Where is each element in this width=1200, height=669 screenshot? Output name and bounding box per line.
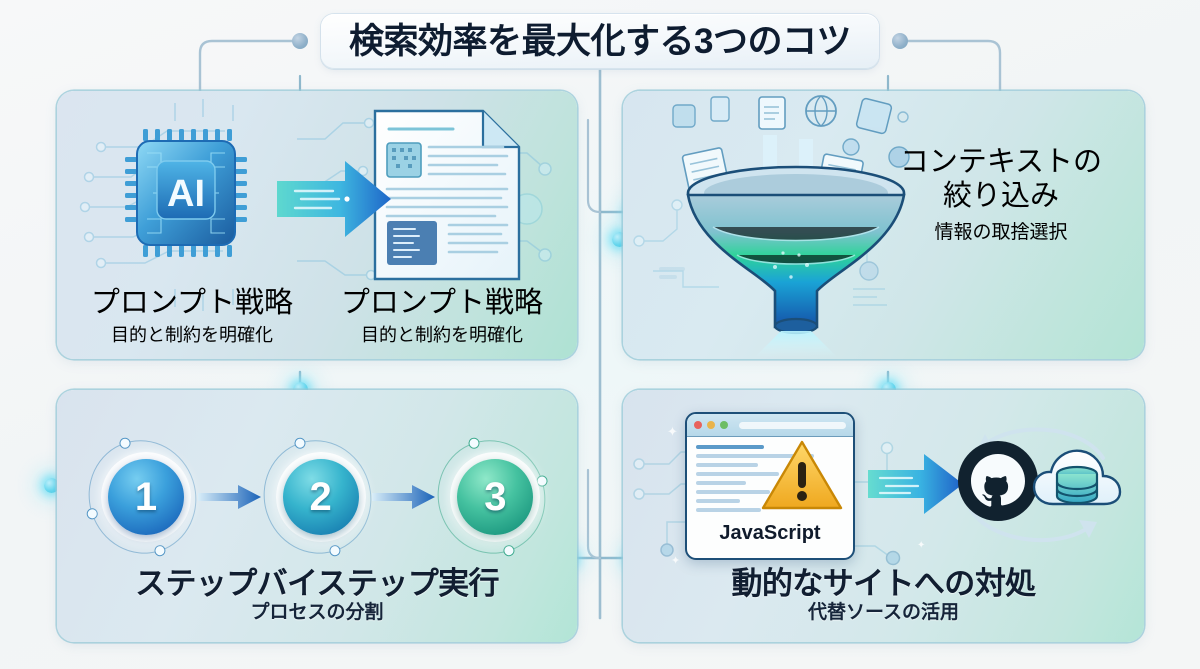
code-line (696, 490, 770, 494)
page-title-text: 検索効率を最大化する3つのコツ (349, 24, 851, 59)
orbit-dot (328, 544, 342, 558)
browser-titlebar (687, 414, 853, 437)
panel-title: ステップバイステップ実行 (57, 568, 577, 600)
traffic-light-close (694, 421, 702, 429)
panel-subtitle: プロセスの分割 (57, 602, 577, 625)
panel-title: 動的なサイトへの対処 (623, 568, 1144, 600)
right-arrow-icon (198, 482, 262, 512)
code-line (696, 508, 761, 512)
browser-frame: JavaScript (685, 412, 855, 560)
javascript-label: JavaScript (687, 522, 853, 545)
code-line (696, 445, 764, 449)
step-sequence: 1 2 (87, 438, 547, 556)
panel-context-labels: コンテキストの 絞り込み 情報の取捨選択 (872, 145, 1130, 244)
panel-step-by-step[interactable]: 1 2 (57, 390, 577, 642)
panel-prompt-label-left: プロンプト戦略 目的と制約を明確化 (67, 279, 317, 347)
panel-prompt-label-right: プロンプト戦略 目的と制約を明確化 (317, 279, 567, 347)
panel-prompt-strategy[interactable]: AI (57, 91, 577, 359)
step-number-badge: 1 (108, 459, 184, 535)
alternate-sources-group (953, 414, 1121, 554)
orbit-dot (153, 544, 167, 558)
cloud-database-icon (1031, 438, 1123, 524)
orbit-dot (118, 436, 132, 450)
page-title: 検索効率を最大化する3つのコツ (321, 14, 879, 69)
panel-dynamic-sites[interactable]: JavaScript (623, 390, 1144, 642)
sparkle-icon: ✦ (917, 540, 925, 551)
right-arrow-icon (372, 482, 436, 512)
traffic-light-minimize (707, 421, 715, 429)
panel-subtitle: 情報の取捨選択 (872, 217, 1130, 244)
orbit-dot (467, 436, 481, 450)
step-node-1: 1 (87, 438, 198, 556)
sparkle-icon: ✦ (667, 424, 678, 440)
panel-title-duplicate: プロンプト戦略 (317, 279, 567, 321)
ai-chip-icon: AI (95, 113, 295, 273)
connector-node-title-left (292, 33, 308, 49)
right-arrow-icon (866, 448, 966, 520)
step-node-2: 2 (262, 438, 373, 556)
panel-subtitle: 目的と制約を明確化 (67, 321, 317, 347)
orbit-dot (502, 544, 516, 558)
code-line (696, 481, 746, 485)
orbit-dot (293, 436, 307, 450)
panel-title-line1: コンテキストの (872, 145, 1130, 179)
step-number-badge: 3 (457, 459, 533, 535)
code-line (696, 463, 758, 467)
code-line (696, 499, 740, 503)
panel-subtitle-duplicate: 目的と制約を明確化 (317, 321, 567, 347)
panel-prompt-labels: プロンプト戦略 目的と制約を明確化 プロンプト戦略 目的と制約を明確化 (67, 279, 567, 347)
step-node-3: 3 (436, 438, 547, 556)
address-bar[interactable] (739, 422, 846, 429)
panel-title-line2: 絞り込み (872, 179, 1130, 213)
github-icon (957, 440, 1039, 522)
panel-context-narrowing[interactable]: コンテキストの 絞り込み 情報の取捨選択 (623, 91, 1144, 359)
right-arrow-icon (275, 151, 395, 247)
traffic-light-maximize (720, 421, 728, 429)
panel-dynamic-labels: 動的なサイトへの対処 代替ソースの活用 (623, 568, 1144, 625)
panel-subtitle: 代替ソースの活用 (623, 602, 1144, 625)
svg-text:AI: AI (167, 173, 205, 215)
browser-window-icon: JavaScript (685, 412, 855, 560)
infographic-canvas: 検索効率を最大化する3つのコツ (0, 0, 1200, 669)
panel-steps-labels: ステップバイステップ実行 プロセスの分割 (57, 568, 577, 625)
panel-title: プロンプト戦略 (67, 279, 317, 321)
step-number-badge: 2 (283, 459, 359, 535)
sparkle-icon: ✦ (671, 554, 680, 567)
connector-node-title-right (892, 33, 908, 49)
warning-triangle-icon (760, 438, 844, 512)
orbit-dot (85, 506, 99, 520)
